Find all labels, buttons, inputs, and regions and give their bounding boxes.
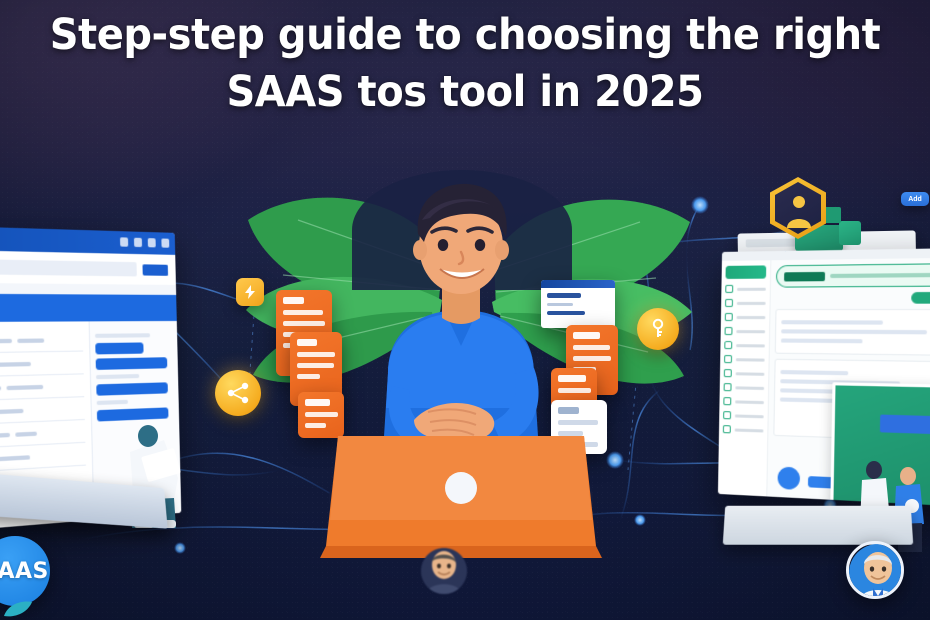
chart-icon [725, 299, 733, 307]
share-nodes-icon [225, 380, 251, 406]
poster-title: Step-step guide to choosing the right SA… [0, 14, 930, 115]
green-mini-card[interactable] [839, 221, 861, 245]
sidebar-item-customers[interactable] [725, 313, 766, 321]
content-card[interactable] [775, 309, 930, 356]
chat-fab-button[interactable] [777, 467, 800, 490]
card-icon [724, 341, 732, 349]
add-pill-button-label: Add [908, 196, 922, 203]
bolt-icon [242, 284, 258, 300]
sidebar-item-billing[interactable] [724, 341, 765, 349]
sidebar-item-help[interactable] [723, 425, 764, 434]
search-button[interactable] [142, 264, 168, 276]
chat-bubble [95, 342, 144, 354]
gold-coin-badge[interactable] [637, 308, 679, 350]
user-icon [725, 313, 733, 321]
undo-icon[interactable] [120, 237, 128, 246]
search-input[interactable] [0, 259, 137, 276]
banner-tag [784, 271, 825, 281]
grid-icon [725, 285, 733, 293]
sidebar-item-tasks[interactable] [724, 383, 765, 392]
cart-icon[interactable] [134, 238, 142, 247]
left-panel-topbar-icons [120, 237, 169, 247]
gold-coin-badge[interactable] [215, 370, 261, 416]
sidebar-item-integrations[interactable] [723, 397, 764, 406]
gear-icon [723, 411, 731, 419]
users-icon[interactable] [148, 238, 156, 247]
right-panel-stand [723, 506, 913, 545]
avatar-bottom-center[interactable] [421, 548, 467, 594]
chat-bubble [96, 382, 167, 395]
primary-banner[interactable] [776, 263, 930, 288]
gold-square-badge[interactable] [236, 278, 264, 306]
avatar-bottom-right[interactable] [846, 541, 904, 599]
hero-illustration [296, 168, 626, 568]
document-icon [725, 327, 733, 335]
sidebar-item-reports[interactable] [725, 327, 766, 335]
add-pill-button[interactable]: Add [901, 192, 929, 206]
sidebar-item-settings[interactable] [723, 411, 764, 420]
check-icon [724, 383, 732, 391]
person-badge-icon [779, 190, 819, 230]
left-panel-search-row[interactable] [0, 250, 176, 285]
primary-action-button[interactable] [911, 292, 930, 304]
table-row[interactable] [0, 329, 83, 354]
saas-badge-label: SAAS [0, 559, 49, 584]
banner-text [830, 273, 930, 278]
right-panel-sidebar[interactable] [718, 260, 771, 496]
sidebar-item-calendar[interactable] [724, 369, 765, 378]
brand-logo [726, 265, 767, 279]
sidebar-item-dashboard[interactable] [725, 285, 766, 293]
help-icon [723, 425, 731, 433]
poster-canvas: Add [0, 0, 930, 620]
sidebar-item-analytics[interactable] [725, 299, 766, 307]
chat-bubble [96, 357, 167, 370]
plug-icon [723, 397, 731, 405]
left-panel-section-header [0, 294, 177, 322]
table-row[interactable] [0, 352, 84, 378]
calendar-icon [724, 369, 732, 377]
avatar-photo [421, 548, 467, 594]
key-icon [647, 318, 669, 340]
title-line-1: Step-step guide to choosing the right [42, 14, 888, 58]
bell-icon[interactable] [161, 238, 169, 247]
teal-leaf-accent-icon [2, 596, 36, 620]
mail-icon [724, 355, 732, 363]
title-line-2: SAAS tos tool in 2025 [42, 71, 888, 115]
sidebar-item-inbox[interactable] [724, 355, 765, 364]
